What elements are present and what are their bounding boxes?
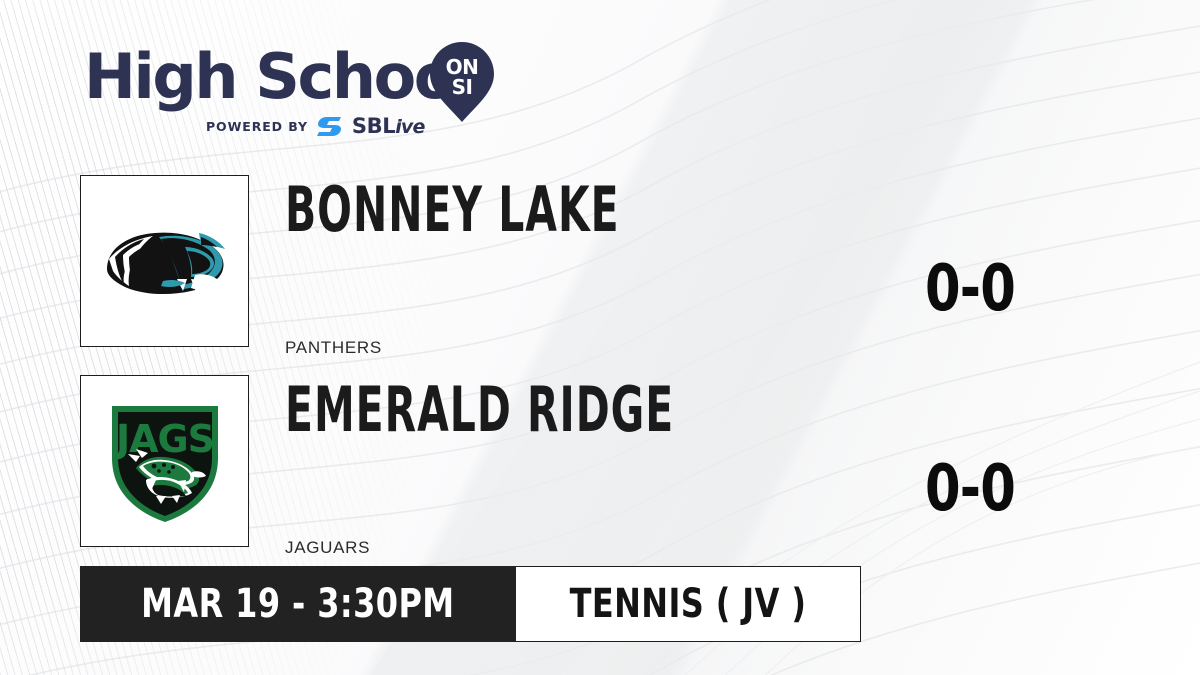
- team-score-away: 0-0: [882, 457, 1058, 521]
- sblive-word-bold: SBL: [352, 114, 395, 138]
- svg-text:SI: SI: [452, 75, 473, 99]
- game-sport-text: TENNIS ( JV ): [569, 584, 806, 624]
- brand-lockup: High School ON SI POWERED BY SBLive: [84, 34, 514, 138]
- svg-text:JAGS: JAGS: [112, 417, 213, 461]
- sblive-s-mark-icon: [317, 115, 343, 137]
- brand-wordmark: High School: [84, 46, 473, 108]
- team-name-away: EMERALD RIDGE: [285, 379, 674, 441]
- team-name-home: BONNEY LAKE: [285, 179, 620, 241]
- panther-head-logo: [99, 213, 231, 309]
- game-info-banner: MAR 19 - 3:30PM TENNIS ( JV ): [80, 566, 861, 642]
- powered-by-label: POWERED BY: [206, 119, 308, 134]
- sblive-wordmark: SBLive: [352, 114, 425, 138]
- game-sport-block: TENNIS ( JV ): [516, 566, 861, 642]
- team-mascot-away: JAGUARS: [285, 538, 370, 558]
- team-logo-box-home: [80, 175, 249, 347]
- matchup-graphic: High School ON SI POWERED BY SBLive: [0, 0, 1200, 675]
- game-datetime-text: MAR 19 - 3:30PM: [141, 584, 454, 624]
- sblive-word-italic: ive: [395, 116, 424, 138]
- map-pin-badge-icon: ON SI: [426, 40, 498, 124]
- jaguar-shield-logo: JAGS: [106, 396, 224, 526]
- powered-by-lockup: POWERED BY SBLive: [206, 114, 425, 138]
- team-logo-box-away: JAGS: [80, 375, 249, 547]
- team-mascot-home: PANTHERS: [285, 338, 382, 358]
- game-datetime-block: MAR 19 - 3:30PM: [80, 566, 516, 642]
- team-score-home: 0-0: [882, 257, 1058, 321]
